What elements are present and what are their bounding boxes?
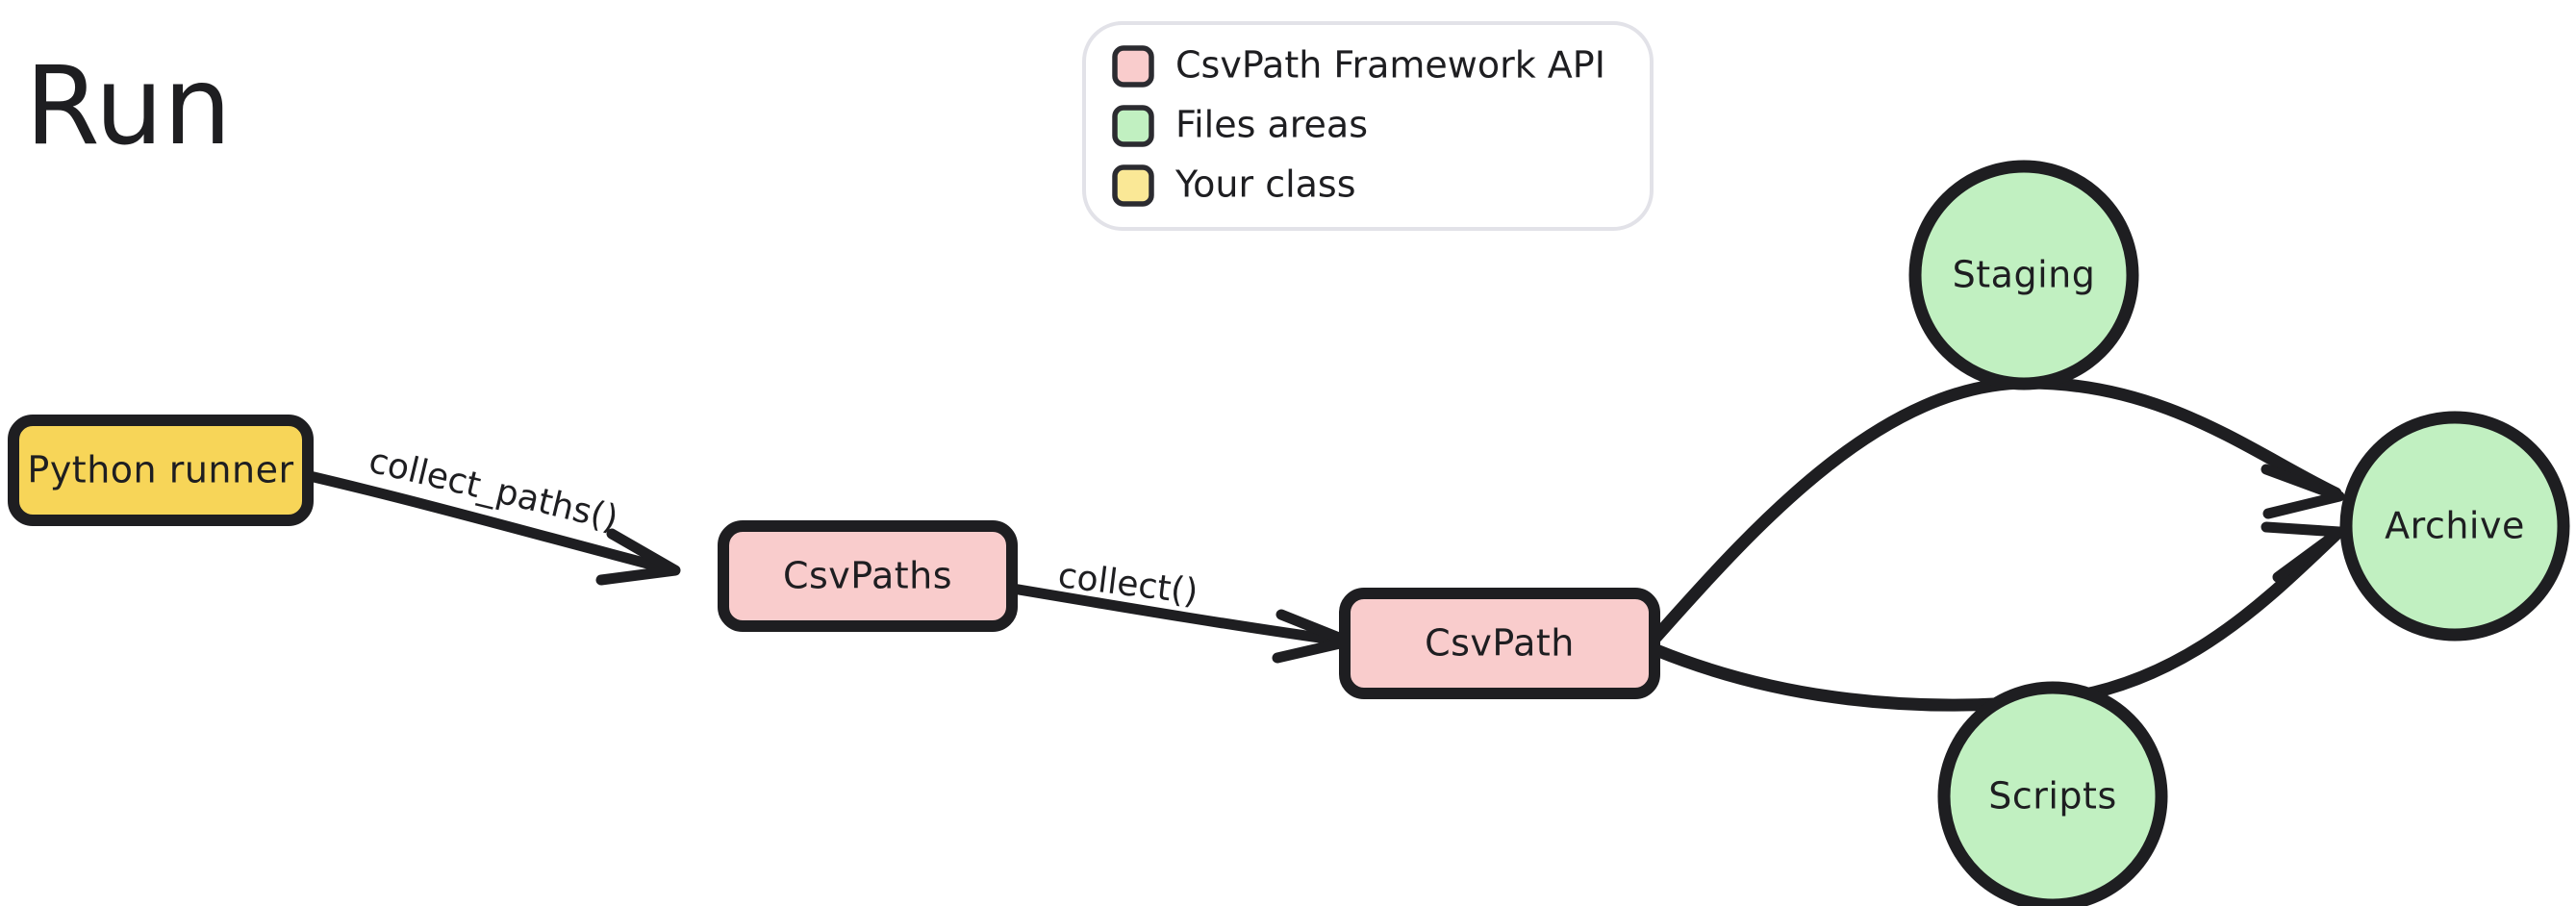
node-python-runner[interactable]: Python runner xyxy=(13,420,308,520)
legend-item-label: Files areas xyxy=(1175,104,1368,146)
node-label: Python runner xyxy=(27,449,293,491)
yellow-swatch xyxy=(1115,167,1151,204)
node-csvpaths[interactable]: CsvPaths xyxy=(723,526,1012,626)
legend-item-csvpath-framework-api: CsvPath Framework API xyxy=(1115,44,1605,87)
legend-item-label: CsvPath Framework API xyxy=(1175,44,1605,87)
legend-item-your-class: Your class xyxy=(1115,164,1356,206)
page-title: Run xyxy=(25,44,232,169)
node-label: CsvPaths xyxy=(783,555,952,597)
green-swatch xyxy=(1115,108,1151,144)
node-label: Staging xyxy=(1953,254,2096,296)
edge-line xyxy=(1656,535,2336,705)
diagram-canvas: Run CsvPath Framework API Files areas Yo… xyxy=(0,0,2576,906)
edge-csvpath-to-archive-via-scripts xyxy=(1656,527,2339,705)
edge-csvpaths-to-csvpath: collect() xyxy=(1013,556,1349,658)
node-csvpath[interactable]: CsvPath xyxy=(1345,593,1654,693)
node-label: Scripts xyxy=(1988,775,2117,818)
node-archive[interactable]: Archive xyxy=(2346,417,2563,635)
edge-python-runner-to-csvpaths: collect_paths() xyxy=(310,441,675,580)
edge-line xyxy=(1656,383,2336,637)
legend: CsvPath Framework API Files areas Your c… xyxy=(1084,23,1652,229)
legend-item-label: Your class xyxy=(1174,164,1356,206)
node-label: CsvPath xyxy=(1425,622,1575,665)
edge-csvpath-to-archive-via-staging xyxy=(1656,383,2339,637)
node-staging[interactable]: Staging xyxy=(1915,166,2133,384)
node-scripts[interactable]: Scripts xyxy=(1944,688,2161,905)
node-label: Archive xyxy=(2385,505,2525,547)
pink-swatch xyxy=(1115,48,1151,85)
